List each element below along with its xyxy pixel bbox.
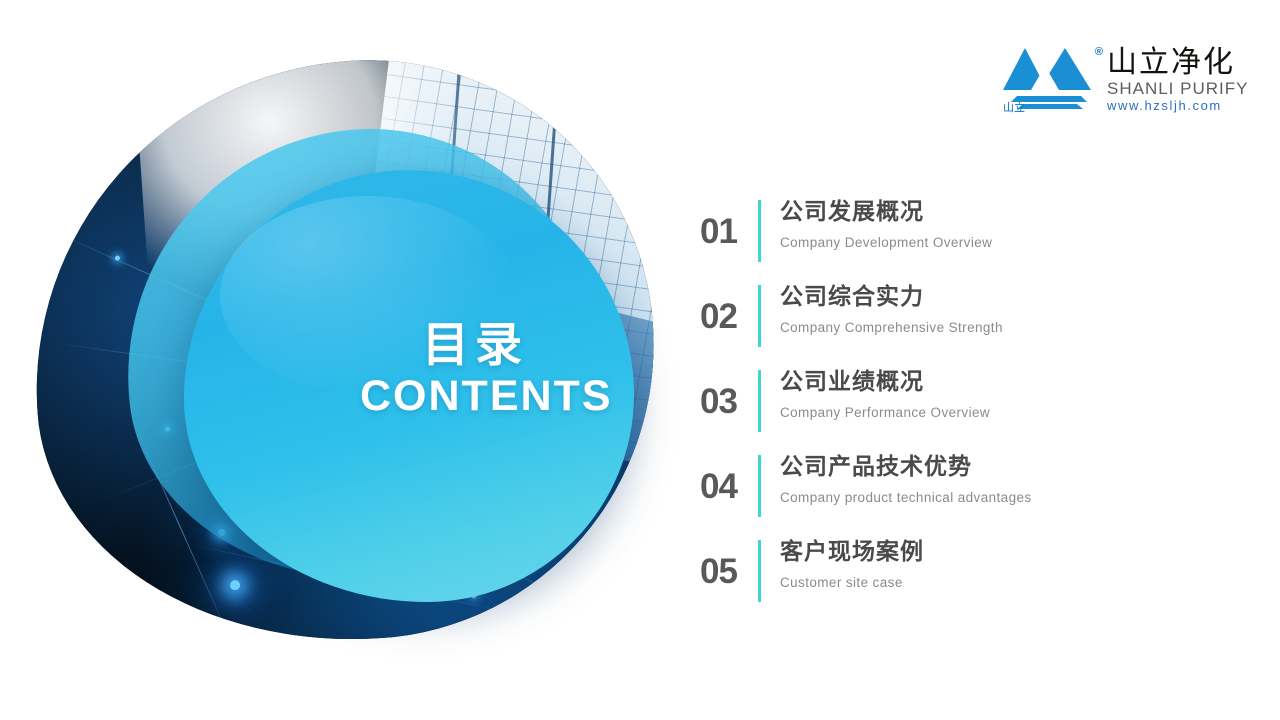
toc-number: 02 bbox=[700, 283, 758, 334]
hero-title: 目录 CONTENTS bbox=[360, 322, 590, 419]
company-logo[interactable]: ® 山立 山立净化 SHANLI PURIFY www.hzsljh.com bbox=[1003, 42, 1248, 114]
toc-item-05[interactable]: 05 客户现场案例 Customer site case bbox=[700, 538, 1220, 600]
network-node bbox=[230, 580, 241, 591]
toc-title-en: Company Performance Overview bbox=[780, 405, 990, 420]
toc-title-en: Company Development Overview bbox=[780, 235, 992, 250]
table-of-contents: 01 公司发展概况 Company Development Overview 0… bbox=[700, 198, 1220, 623]
company-name-en: SHANLI PURIFY bbox=[1107, 80, 1248, 97]
toc-title-cn: 公司业绩概况 bbox=[780, 368, 990, 397]
toc-accent-bar bbox=[758, 200, 761, 262]
toc-number: 05 bbox=[700, 538, 758, 589]
toc-accent-bar bbox=[758, 370, 761, 432]
toc-title-cn: 客户现场案例 bbox=[780, 538, 924, 567]
presentation-slide: 目录 CONTENTS ® 山立 山立净化 SHANLI PURIFY www.… bbox=[0, 0, 1280, 720]
toc-title-cn: 公司发展概况 bbox=[780, 198, 992, 227]
toc-accent-bar bbox=[758, 455, 761, 517]
toc-item-02[interactable]: 02 公司综合实力 Company Comprehensive Strength bbox=[700, 283, 1220, 345]
toc-number: 04 bbox=[700, 453, 758, 504]
mountain-logo-icon: ® 山立 bbox=[1003, 42, 1099, 114]
company-name-cn: 山立净化 bbox=[1107, 48, 1248, 78]
logo-mark-caption: 山立 bbox=[1003, 99, 1025, 115]
toc-item-01[interactable]: 01 公司发展概况 Company Development Overview bbox=[700, 198, 1220, 260]
toc-accent-bar bbox=[758, 540, 761, 602]
registered-trademark-icon: ® bbox=[1095, 46, 1103, 58]
toc-title-cn: 公司产品技术优势 bbox=[780, 453, 1032, 482]
hero-title-en: CONTENTS bbox=[360, 375, 590, 419]
toc-number: 03 bbox=[700, 368, 758, 419]
toc-item-04[interactable]: 04 公司产品技术优势 Company product technical ad… bbox=[700, 453, 1220, 515]
toc-number: 01 bbox=[700, 198, 758, 249]
toc-accent-bar bbox=[758, 285, 761, 347]
toc-title-en: Company product technical advantages bbox=[780, 490, 1032, 505]
toc-title-en: Company Comprehensive Strength bbox=[780, 320, 1003, 335]
logo-text-block: 山立净化 SHANLI PURIFY www.hzsljh.com bbox=[1107, 48, 1248, 114]
toc-title-cn: 公司综合实力 bbox=[780, 283, 1003, 312]
company-website[interactable]: www.hzsljh.com bbox=[1107, 99, 1248, 112]
toc-item-03[interactable]: 03 公司业绩概况 Company Performance Overview bbox=[700, 368, 1220, 430]
hero-title-cn: 目录 bbox=[360, 322, 590, 370]
toc-title-en: Customer site case bbox=[780, 575, 924, 590]
